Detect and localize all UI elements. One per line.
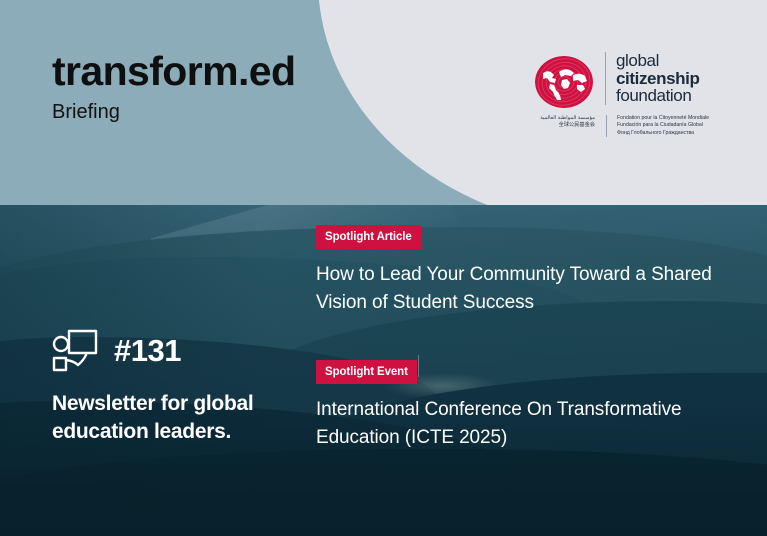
organization-logo[interactable]: global citizenship foundation مؤسسة المو… xyxy=(533,52,709,137)
issue-number: #131 xyxy=(114,334,181,368)
logo-word-citizenship: citizenship xyxy=(616,70,699,88)
presenter-board-icon xyxy=(52,329,98,373)
logo-spanish-name: Fundación para la Ciudadanía Global xyxy=(617,122,709,129)
logo-word-global: global xyxy=(616,52,699,70)
spotlight-event-block[interactable]: Spotlight Event International Conference… xyxy=(316,360,716,452)
page-title: transform.ed xyxy=(52,48,295,94)
logo-french-name: Fondation pour la Citoyenneté Mondiale xyxy=(617,115,709,122)
brand-block: transform.ed Briefing xyxy=(52,48,295,124)
logo-russian-name: Фонд Глобального Гражданства xyxy=(617,130,709,137)
logo-intl-right: Fondation pour la Citoyenneté Mondiale F… xyxy=(606,115,709,137)
newsletter-banner: transform.ed Briefing xyxy=(0,0,767,536)
spotlight-article-title[interactable]: How to Lead Your Community Toward a Shar… xyxy=(316,261,716,317)
spotlight-event-title[interactable]: International Conference On Transformati… xyxy=(316,396,716,452)
logo-intl-left: مؤسسة المواطنة العالمية 全球公民基金会 xyxy=(533,115,596,130)
page-subtitle: Briefing xyxy=(52,100,295,124)
logo-word-foundation: foundation xyxy=(616,87,699,105)
logo-chinese-name: 全球公民基金会 xyxy=(533,122,595,129)
hero-tagline: Newsletter for global education leaders. xyxy=(52,390,302,446)
status-badge-spotlight-event: Spotlight Event xyxy=(316,360,417,384)
issue-row: #131 xyxy=(52,329,181,373)
logo-bottom-row: مؤسسة المواطنة العالمية 全球公民基金会 Fondatio… xyxy=(533,115,709,137)
globe-logo-icon xyxy=(533,53,595,111)
logo-top-row: global citizenship foundation xyxy=(533,52,709,111)
spotlight-article-block[interactable]: Spotlight Article How to Lead Your Commu… xyxy=(316,225,716,317)
hero-section: #131 Newsletter for global education lea… xyxy=(0,205,767,536)
status-badge-spotlight-article: Spotlight Article xyxy=(316,225,421,249)
logo-wordmark: global citizenship foundation xyxy=(605,52,699,105)
